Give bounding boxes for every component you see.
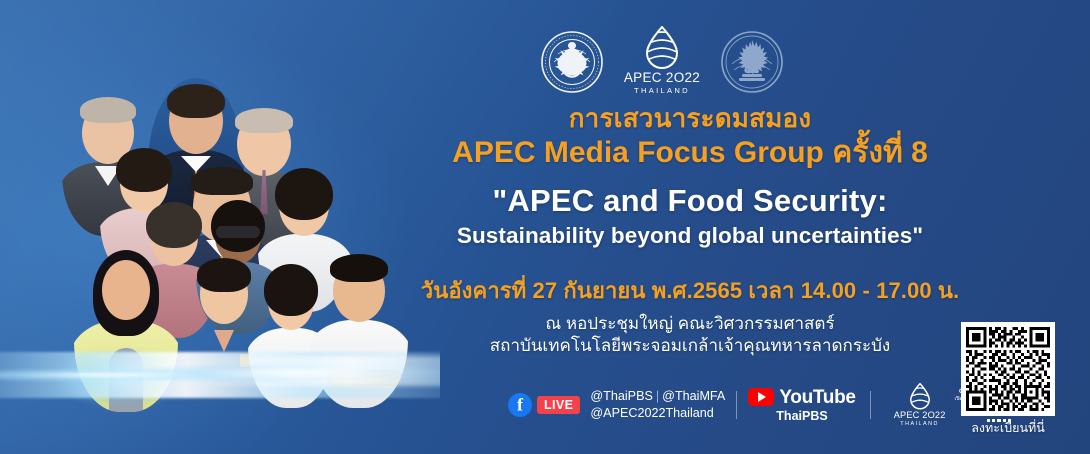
event-venue-line-2: สถาบันเทคโนโลยีพระจอมเกล้าเจ้าคุณทหารลาด… (390, 335, 990, 358)
qr-label: ลงทะเบียนที่นี่ (961, 422, 1055, 435)
handle-thaimfa[interactable]: @ThaiMFA (662, 389, 725, 403)
apec-2022-thailand-logo: APEC 2O22 THAILAND (614, 26, 710, 98)
headline-line-2: APEC Media Focus Group ครั้งที่ 8 (390, 136, 990, 170)
youtube-play-icon (748, 388, 774, 406)
youtube-label: YouTube (779, 388, 855, 407)
facebook-icon[interactable] (508, 393, 532, 417)
speakers-photo-collage (0, 0, 440, 454)
live-badge: LIVE (537, 396, 580, 414)
thai-garuda-royal-seal-icon (540, 30, 604, 94)
qr-code-icon[interactable] (961, 322, 1055, 416)
thai-royal-emblem-seal-icon (720, 30, 784, 94)
youtube-channel-name: ThaiPBS (776, 410, 827, 423)
event-datetime: วันอังคารที่ 27 กันยายน พ.ศ.2565 เวลา 14… (390, 277, 990, 305)
social-handles: @ThaiPBS|@ThaiMFA @APEC2022Thailand (590, 388, 725, 422)
apec-footer-logo: APEC 2O22 THAILAND (894, 383, 946, 427)
event-venue-line-1: ณ หอประชุมใหญ่ คณะวิศวกรรมศาสตร์ (390, 313, 990, 336)
topic-title-line-1: "APEC and Food Security: (390, 182, 990, 219)
apec-chalom-basket-icon (907, 383, 933, 410)
divider (736, 391, 737, 419)
apec-chalom-basket-icon (641, 26, 683, 70)
divider (870, 391, 871, 419)
headline-block: การเสวนาระดมสมอง APEC Media Focus Group … (390, 104, 990, 358)
logo-row: APEC 2O22 THAILAND (540, 26, 784, 98)
handle-thaipbs[interactable]: @ThaiPBS (590, 389, 652, 403)
apec-footer-word: APEC 2O22 (894, 411, 946, 420)
handle-separator: | (653, 389, 662, 403)
handle-apec2022thailand[interactable]: @APEC2022Thailand (590, 405, 725, 422)
apec-footer-sub: THAILAND (900, 422, 939, 427)
youtube-channel-block[interactable]: YouTube ThaiPBS (748, 388, 855, 423)
apec-media-focus-group-banner: APEC 2O22 THAILAND การเสวนาระด (0, 0, 1090, 454)
topic-title-line-2: Sustainability beyond global uncertainti… (390, 222, 990, 249)
apec-logo-sub: THAILAND (634, 87, 690, 95)
headline-line-1: การเสวนาระดมสมอง (390, 104, 990, 134)
registration-qr-block[interactable]: ลงทะเบียนที่นี่ (961, 322, 1055, 435)
apec-logo-word: APEC 2O22 (624, 71, 700, 85)
